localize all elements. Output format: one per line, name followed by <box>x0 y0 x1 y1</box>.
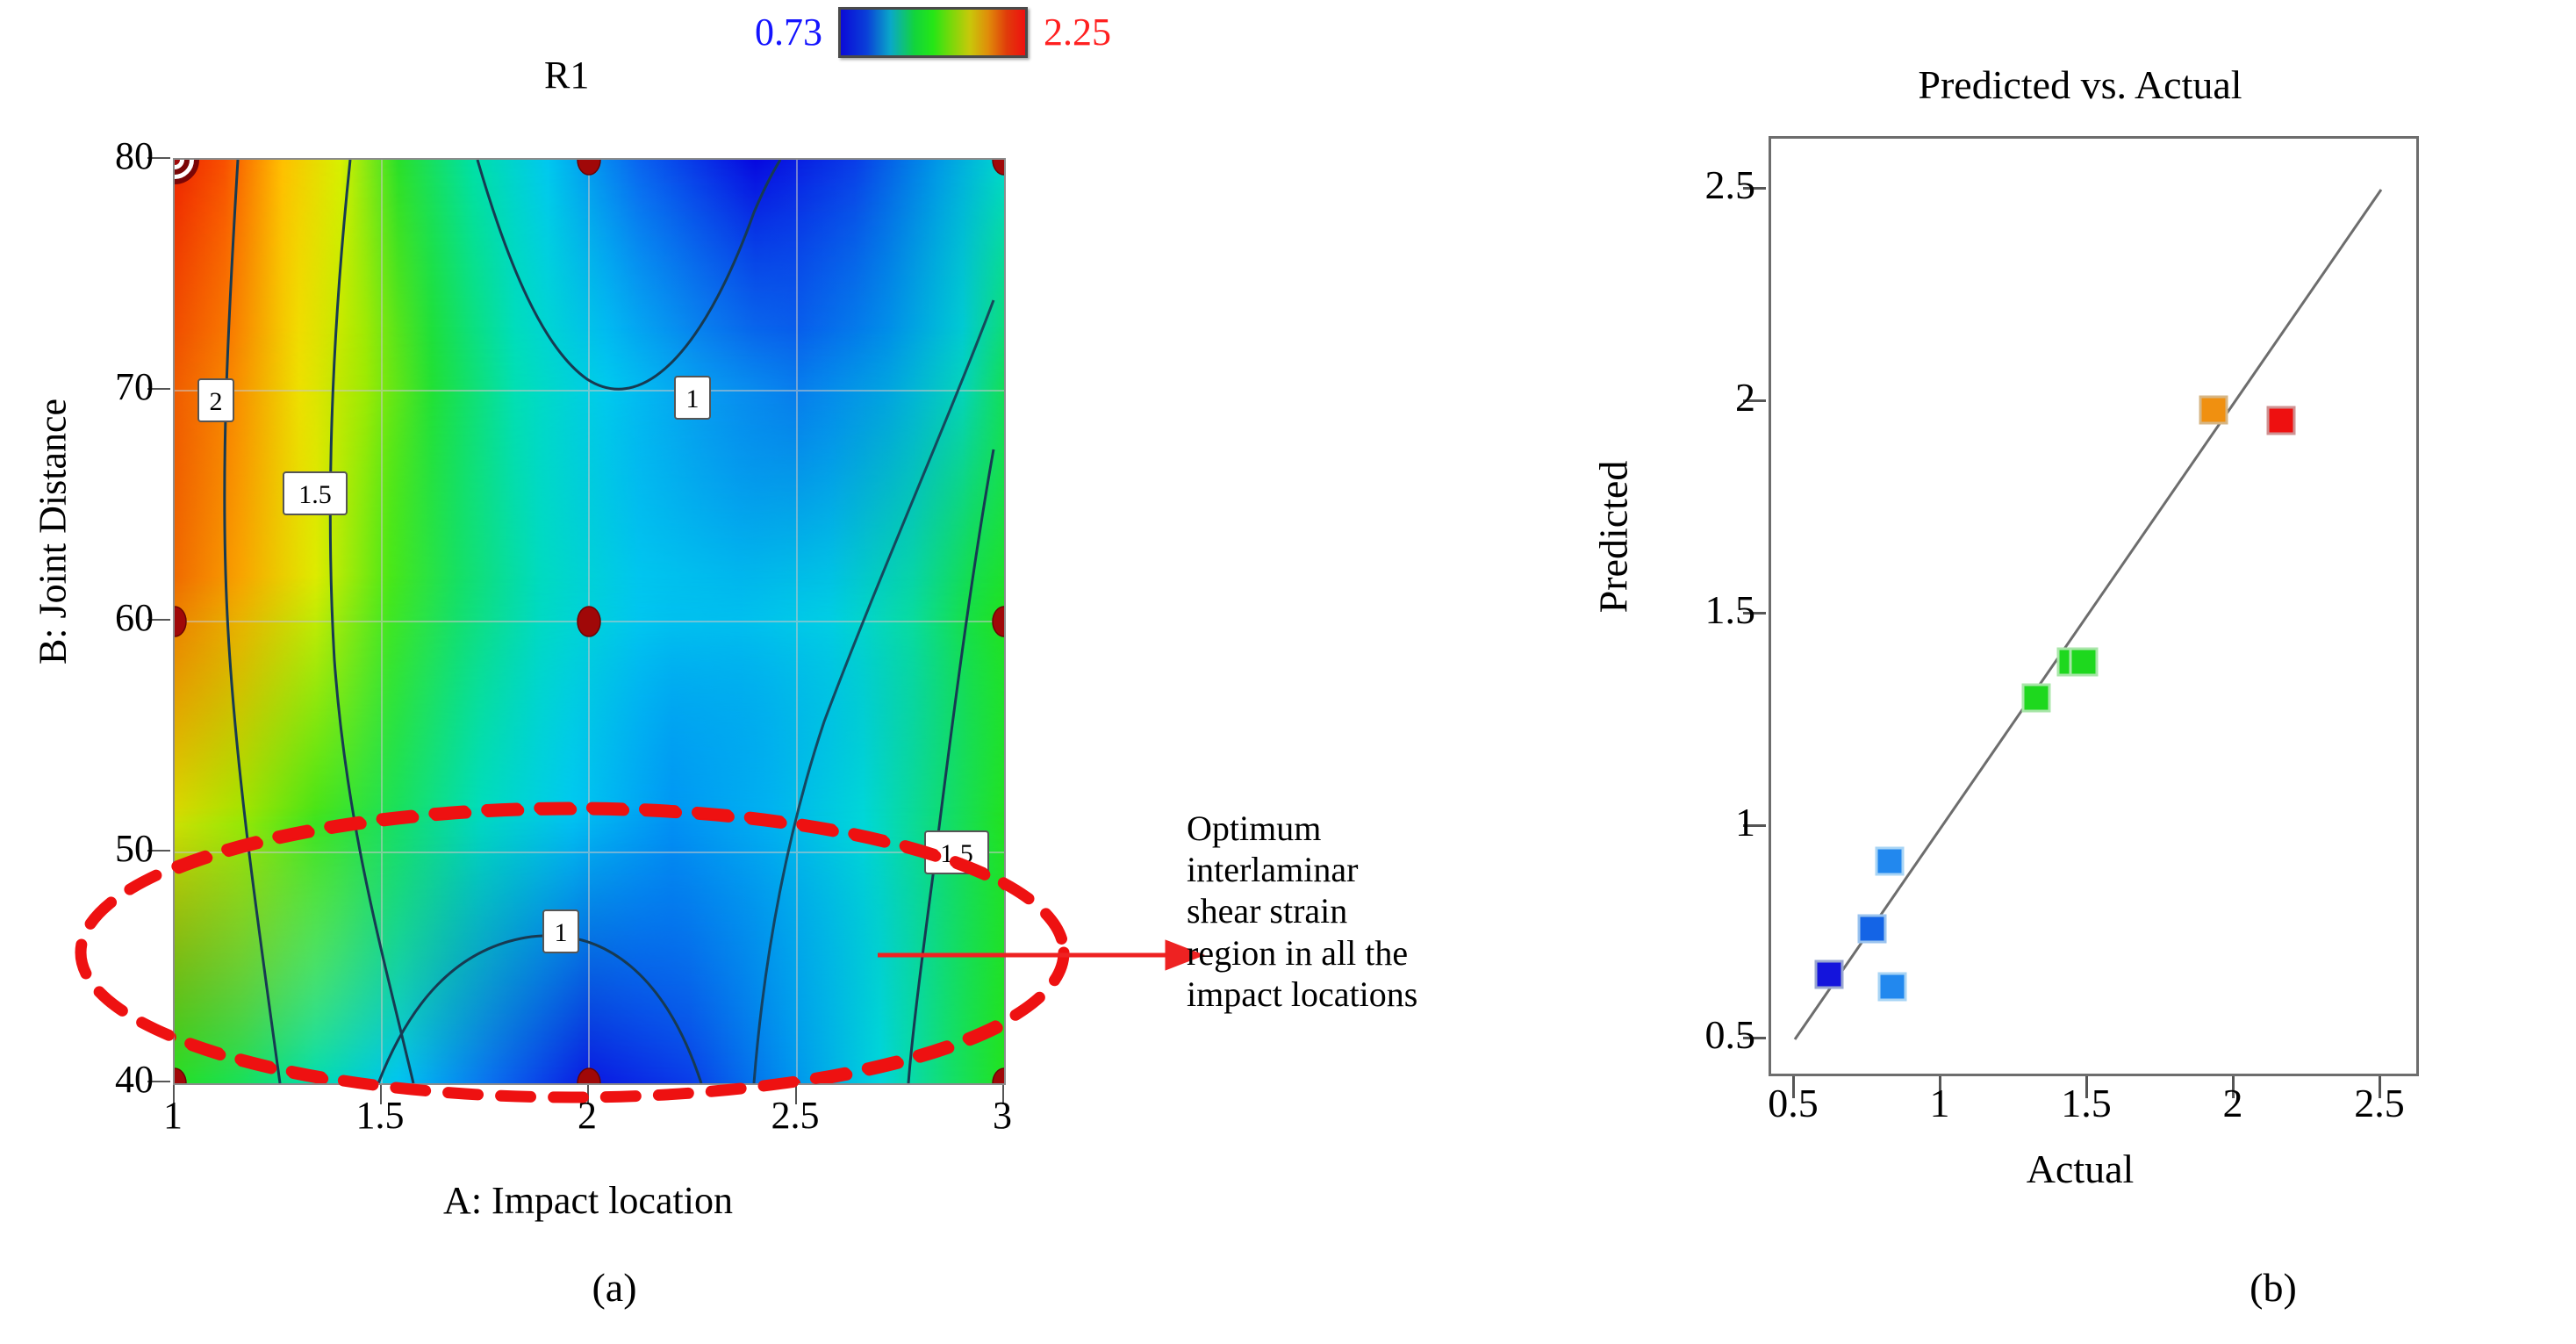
data-point-square <box>1876 848 1903 874</box>
colorbar-gradient <box>838 7 1028 58</box>
annotation-line-3: shear strain <box>1187 890 1555 931</box>
pva-plot-area <box>1769 136 2419 1076</box>
pva-x-tick-label-0-5: 0.5 <box>1727 1080 1859 1126</box>
y-tick-label-50: 50 <box>48 826 154 871</box>
annotation-line-4: region in all the <box>1187 932 1555 974</box>
identity-reference-line <box>1795 190 2381 1039</box>
contour-label-1-upper: 1 <box>675 377 710 419</box>
panel-b-caption: (b) <box>2106 1264 2440 1311</box>
x-tick-label-1: 1 <box>120 1093 226 1138</box>
x-tick-label-3: 3 <box>950 1093 1055 1138</box>
pva-y-tick-label-2-5: 2.5 <box>1624 162 1755 208</box>
pva-data-points <box>1816 397 2294 1000</box>
design-point <box>578 607 600 636</box>
x-tick-label-2: 2 <box>535 1093 640 1138</box>
data-point-square <box>2268 407 2294 434</box>
data-point-square <box>1816 961 1842 988</box>
svg-text:1: 1 <box>555 918 568 947</box>
colorbar-legend: 0.73 2.25 <box>755 7 1111 58</box>
svg-text:1.5: 1.5 <box>940 839 973 868</box>
colorbar-max-value: 2.25 <box>1044 13 1111 52</box>
svg-text:1: 1 <box>686 385 700 413</box>
data-point-square <box>1859 916 1885 942</box>
data-point-square <box>2023 685 2049 711</box>
annotation-line-1: Optimum <box>1187 808 1555 849</box>
x-tick-label-1-5: 1.5 <box>327 1093 433 1138</box>
contour-label-1-5-left: 1.5 <box>283 472 347 514</box>
data-point-square <box>1879 974 1905 1000</box>
contour-label-1-lower: 1 <box>543 910 578 952</box>
pva-x-axis-label: Actual <box>1869 1146 2291 1192</box>
pva-y-tick-label-1-5: 1.5 <box>1624 586 1755 633</box>
contour-label-1-5-right: 1.5 <box>925 831 988 873</box>
colorbar-min-value: 0.73 <box>755 13 822 52</box>
pva-y-tick-label-0-5: 0.5 <box>1624 1011 1755 1058</box>
pva-scatter-svg <box>1771 139 2416 1074</box>
contour-plot-area: 2 1.5 1 1 1.5 <box>173 158 1006 1085</box>
contour-label-2: 2 <box>198 379 233 421</box>
optimum-region-annotation: Optimum interlaminar shear strain region… <box>1187 808 1555 1015</box>
pva-x-tick-label-2-5: 2.5 <box>2314 1080 2445 1126</box>
contour-x-axis-label: A: Impact location <box>219 1178 957 1223</box>
contour-plot-panel: R1 B: Joint Distance A: Impact location … <box>0 53 1159 1159</box>
y-tick-label-80: 80 <box>48 133 154 178</box>
y-tick-label-60: 60 <box>48 595 154 640</box>
annotation-line-5: impact locations <box>1187 974 1555 1015</box>
panel-a-caption: (a) <box>448 1264 781 1311</box>
svg-text:2: 2 <box>210 387 223 416</box>
pva-x-tick-label-1-5: 1.5 <box>2020 1080 2152 1126</box>
svg-text:1.5: 1.5 <box>298 480 332 509</box>
predicted-vs-actual-panel: Predicted vs. Actual Predicted Actual 2.… <box>1562 53 2576 1220</box>
pva-x-tick-label-2: 2 <box>2167 1080 2299 1126</box>
data-point-square <box>2200 397 2227 423</box>
pva-title: Predicted vs. Actual <box>1773 61 2387 108</box>
pva-x-tick-label-1: 1 <box>1874 1080 2006 1126</box>
data-point-square <box>2070 649 2097 675</box>
annotation-line-2: interlaminar <box>1187 849 1555 890</box>
pva-y-tick-label-2: 2 <box>1624 374 1755 420</box>
x-tick-label-2-5: 2.5 <box>743 1093 848 1138</box>
contour-plot-title: R1 <box>544 53 589 97</box>
y-tick-label-70: 70 <box>48 364 154 409</box>
contour-field-svg: 2 1.5 1 1 1.5 <box>175 160 1004 1083</box>
pva-y-tick-label-1: 1 <box>1624 799 1755 845</box>
